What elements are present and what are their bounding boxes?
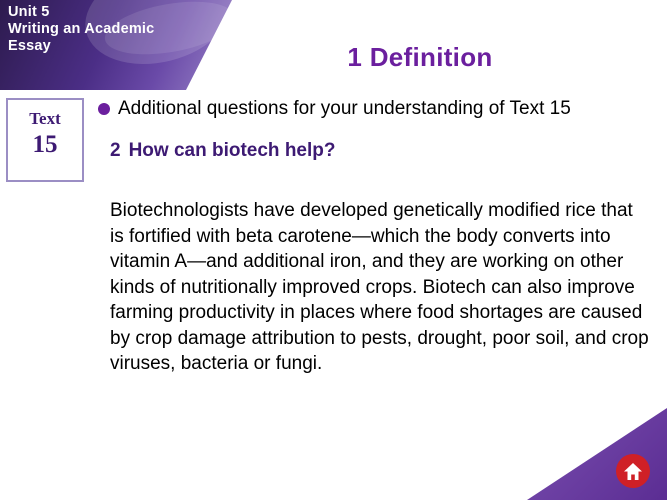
unit-title: Unit 5 Writing an Academic Essay: [8, 4, 208, 55]
slide: Unit 5 Writing an Academic Essay 1 Defin…: [0, 0, 667, 500]
page-title: 1 Definition: [210, 42, 630, 73]
text-reference-number: 15: [8, 131, 82, 159]
bullet-item: Additional questions for your understand…: [98, 97, 658, 121]
unit-title-line-2: Writing an Academic: [8, 21, 208, 38]
corner-decoration: [527, 408, 667, 500]
text-reference-box: Text 15: [6, 98, 84, 182]
question-heading: 2How can biotech help?: [110, 140, 335, 162]
question-number: 2: [110, 140, 121, 161]
home-icon: [623, 462, 643, 481]
text-reference-label: Text: [8, 109, 82, 129]
unit-title-line-3: Essay: [8, 38, 208, 55]
bullet-item-label: Additional questions for your understand…: [118, 97, 571, 121]
home-button[interactable]: [616, 454, 650, 488]
question-text: How can biotech help?: [129, 140, 336, 161]
unit-title-line-1: Unit 5: [8, 4, 208, 21]
bullet-dot-icon: [98, 103, 110, 115]
answer-paragraph: Biotechnologists have developed genetica…: [110, 198, 650, 377]
